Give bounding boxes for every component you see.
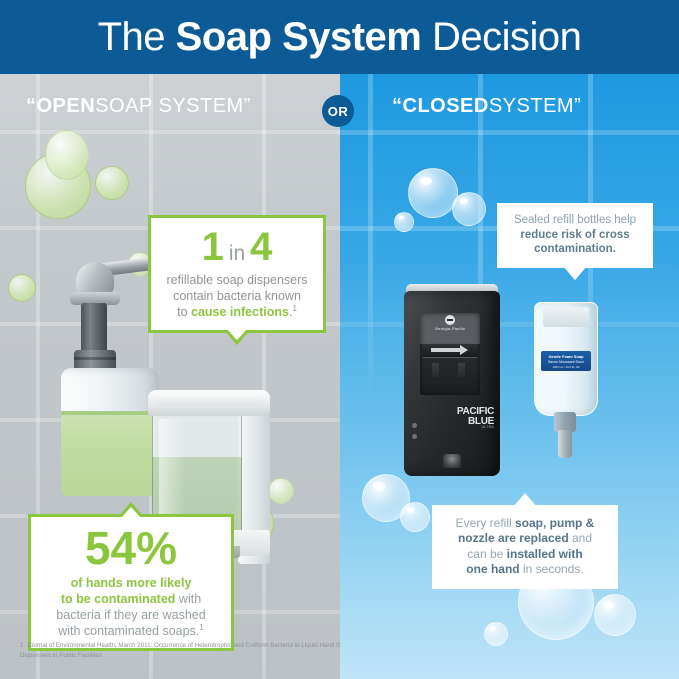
footnote-marker: 1 (199, 623, 203, 632)
contaminated-soap-fill (61, 411, 159, 496)
refill-line2: nozzle are replaced and (444, 531, 606, 546)
stat-fifty-four: 54% (85, 525, 177, 571)
brand-line-ultra: ULTRA (404, 426, 494, 429)
callout-every-refill: Every refill soap, pump & nozzle are rep… (432, 505, 618, 589)
line2-plain: with (175, 592, 201, 606)
soap-bubble-bottom-right (594, 594, 636, 636)
one-in-four-stat: 1 in 4 (159, 227, 315, 267)
hand-sensor-icon (443, 454, 461, 468)
sealed-refill-bottle-image: Gentle Foam Soap Savon Moussant Doux 120… (534, 302, 596, 460)
one-in-four-line1: refillable soap dispensers (159, 272, 315, 288)
soap-bubble-medium-top (452, 192, 486, 226)
subhead-open-system: “OPEN SOAP SYSTEM” (26, 90, 251, 122)
label-product-name-fr: Savon Moussant Doux (541, 360, 591, 364)
arrow-right-icon (431, 348, 461, 352)
led-bottom (412, 434, 417, 439)
pump-head (76, 262, 114, 296)
one-in-four-line2: contain bacteria known (159, 288, 315, 304)
refill-bottle-shoulder (543, 307, 589, 327)
title-prefix: The (98, 15, 176, 59)
refill-direction-band (423, 343, 477, 358)
soap-bubble-mid-left-small (400, 502, 430, 532)
or-badge: OR (322, 95, 354, 127)
callout-fifty-four-percent: 54% of hands more likely to be contamina… (28, 514, 234, 651)
refill-line1-bold: soap, pump & (515, 516, 594, 530)
refill-line2-bold: nozzle are replaced (458, 531, 569, 545)
dispenser-view-window: Georgia-Pacific (420, 313, 480, 395)
refill-bottle-neck (554, 412, 576, 432)
dispenser-shell: Georgia-Pacific PACIFIC BLUE ULTRA (404, 291, 500, 476)
fifty-four-body: of hands more likely to be contaminated … (39, 575, 223, 639)
sealed-line1: Sealed refill bottles help (507, 213, 643, 228)
fifty-four-line2: to be contaminated with (39, 591, 223, 607)
fifty-four-line3: bacteria if they are washed (39, 607, 223, 623)
header-bar: The Soap System Decision (0, 0, 679, 74)
callout-sealed-refill: Sealed refill bottles help reduce risk o… (497, 203, 653, 268)
pacific-blue-ultra-dispenser-image: Georgia-Pacific PACIFIC BLUE ULTRA (404, 284, 500, 476)
soap-bubble-bottom-tiny (484, 622, 508, 646)
germ-bubble-small (95, 166, 129, 200)
tank-lid (148, 390, 270, 416)
line2-bold: to be contaminated (61, 592, 176, 606)
label-volume: 1200 mL / 40.5 FL OZ (541, 365, 591, 369)
sealed-refill-body: Sealed refill bottles help reduce risk o… (507, 213, 643, 257)
sealed-line2: reduce risk of cross (507, 228, 643, 243)
pump-neck (81, 303, 107, 355)
refill-bottle-body: Gentle Foam Soap Savon Moussant Doux 120… (534, 302, 598, 416)
refill-line2-plain: and (569, 531, 592, 545)
sealed-line2-bold: reduce risk of cross (520, 229, 629, 241)
subhead-right-bold: “CLOSED (392, 95, 489, 118)
refill-bottle-label: Gentle Foam Soap Savon Moussant Doux 120… (541, 351, 591, 371)
one-in-four-body: refillable soap dispensers contain bacte… (159, 272, 315, 320)
led-top (412, 423, 417, 428)
nozzle-right (458, 363, 465, 378)
page-title: The Soap System Decision (98, 15, 582, 60)
refill-line4-plain: in seconds. (520, 562, 584, 576)
fifty-four-line4: with contaminated soaps.1 (39, 623, 223, 639)
refill-line4-bold: one hand (466, 562, 519, 576)
refill-line1: Every refill soap, pump & (444, 516, 606, 531)
refill-line1-plain: Every refill (456, 516, 515, 530)
closed-system-panel: Georgia-Pacific PACIFIC BLUE ULTRA (340, 74, 679, 679)
subhead-left-rest: SOAP SYSTEM” (95, 95, 251, 118)
line1-bold: of hands more likely (71, 576, 192, 590)
callout-one-in-four: 1 in 4 refillable soap dispensers contai… (148, 215, 326, 333)
germ-bubble-bottom-small (268, 478, 294, 504)
subhead-right-rest: SYSTEM” (489, 95, 581, 118)
subhead-closed-system: “CLOSED SYSTEM” (392, 90, 581, 122)
dispenser-brand-mark: PACIFIC BLUE ULTRA (404, 407, 494, 429)
every-refill-body: Every refill soap, pump & nozzle are rep… (444, 516, 606, 577)
status-led-indicators (412, 423, 417, 445)
refill-bottle-pump (558, 430, 572, 458)
title-bold: Soap System (176, 15, 422, 59)
footnote-marker: 1 (292, 304, 296, 313)
subhead-left-bold: “OPEN (26, 95, 95, 118)
stat-connector-in: in (229, 243, 245, 264)
soap-bubble-large-top (408, 168, 458, 218)
soap-bubble-small-top (394, 212, 414, 232)
label-product-name: Gentle Foam Soap (541, 354, 591, 359)
infographic-poster: The Soap System Decision (0, 0, 679, 679)
footnote-citation: 1. Journal of Environmental Health, Marc… (20, 641, 340, 660)
refill-line3-bold: installed with (507, 547, 583, 561)
fifty-four-stat: 54% (39, 525, 223, 571)
one-in-four-line3: to cause infections.1 (159, 304, 315, 320)
sealed-line3-bold: contamination. (534, 243, 616, 255)
germ-bubble-plain-top (45, 130, 89, 180)
line3-bold: cause infections (191, 305, 289, 319)
stat-number-four: 4 (250, 227, 272, 267)
fifty-four-line1: of hands more likely (39, 575, 223, 591)
manufacturer-label: Georgia-Pacific (420, 326, 480, 331)
refill-line4: one hand in seconds. (444, 562, 606, 577)
nozzle-left (432, 363, 439, 378)
dispenser-nozzles (432, 363, 468, 379)
line3-plain: to (177, 305, 191, 319)
chrome-pump-dispenser-image (0, 258, 120, 498)
sealed-line3: contamination. (507, 242, 643, 257)
refill-line3: can be installed with (444, 547, 606, 562)
pump-bottle (61, 368, 159, 496)
refill-line3-plain: can be (467, 547, 506, 561)
line4-text: with contaminated soaps. (58, 624, 199, 638)
title-suffix: Decision (421, 15, 581, 59)
georgia-pacific-logo-icon (445, 315, 455, 325)
stat-number-one: 1 (202, 227, 224, 267)
open-system-panel: 1 in 4 refillable soap dispensers contai… (0, 74, 340, 679)
